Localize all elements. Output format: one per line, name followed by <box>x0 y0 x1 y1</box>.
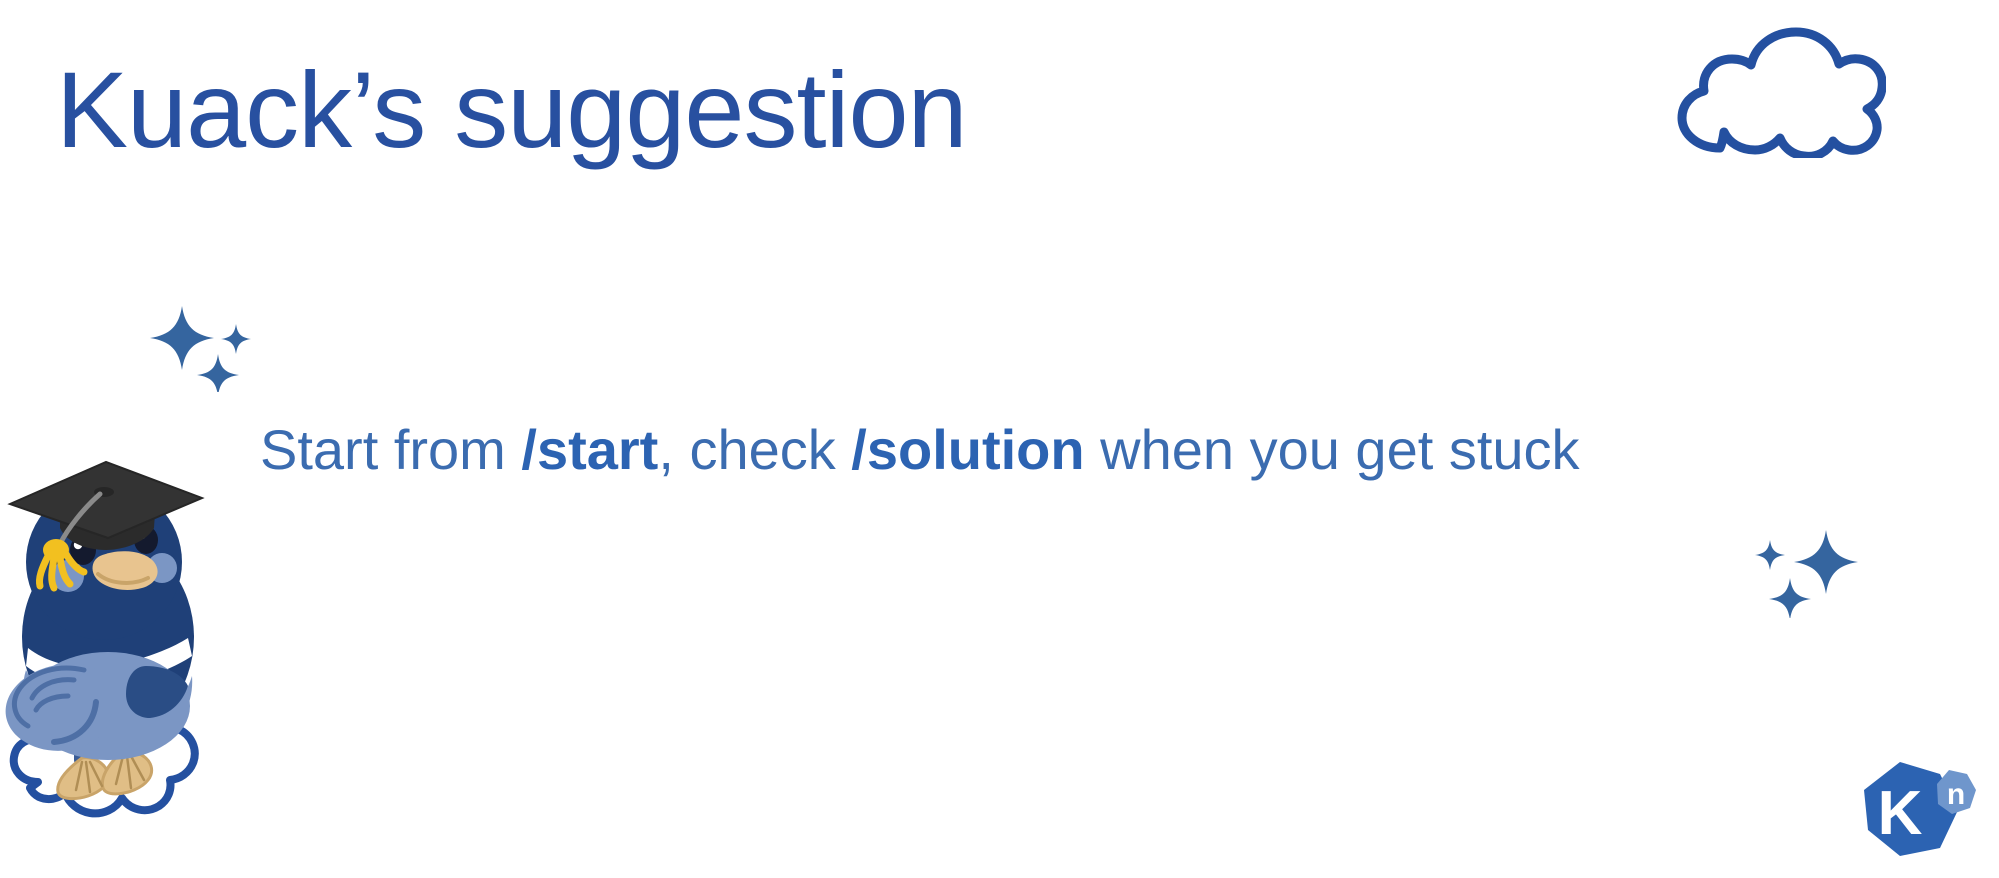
body-text: Start from /start, check /solution when … <box>260 416 1580 483</box>
tassel <box>39 539 84 588</box>
command-start: /start <box>521 418 658 481</box>
graduation-cap <box>10 462 202 588</box>
webbed-feet <box>58 751 152 798</box>
sparkle-medium <box>1769 578 1811 618</box>
logo-primary-shape <box>1864 762 1958 856</box>
eyes <box>70 526 158 565</box>
slide-canvas: Kuack’s suggestion Start from /start, ch… <box>0 0 1999 878</box>
white-collar-band <box>26 638 192 687</box>
body-text-middle: , check <box>658 418 851 481</box>
command-solution: /solution <box>851 418 1084 481</box>
logo-primary-letter: K <box>1878 779 1923 848</box>
cloud-outline-icon <box>1662 26 1886 163</box>
kuack-duck-mascot-graduate <box>0 452 226 857</box>
logo-badge-shape <box>1937 770 1976 814</box>
sparkle-medium <box>197 354 239 392</box>
cloud-platform <box>14 708 195 814</box>
body <box>22 484 194 737</box>
beak <box>93 551 158 590</box>
sparkle-cluster-icon <box>1748 522 1864 623</box>
kn-logo: K n <box>1848 752 1986 875</box>
sparkle-large <box>1794 530 1858 594</box>
sparkle-cluster-icon <box>144 302 254 397</box>
logo-badge-letter: n <box>1947 778 1965 811</box>
wing <box>6 664 112 751</box>
body-text-after: when you get stuck <box>1085 418 1580 481</box>
sparkle-small <box>221 324 251 354</box>
sparkle-large <box>150 306 214 370</box>
body-text-before: Start from <box>260 418 521 481</box>
legs <box>74 720 130 766</box>
cheeks <box>52 553 177 592</box>
page-title: Kuack’s suggestion <box>56 48 967 172</box>
belly <box>23 652 192 760</box>
sparkle-small <box>1755 540 1785 570</box>
